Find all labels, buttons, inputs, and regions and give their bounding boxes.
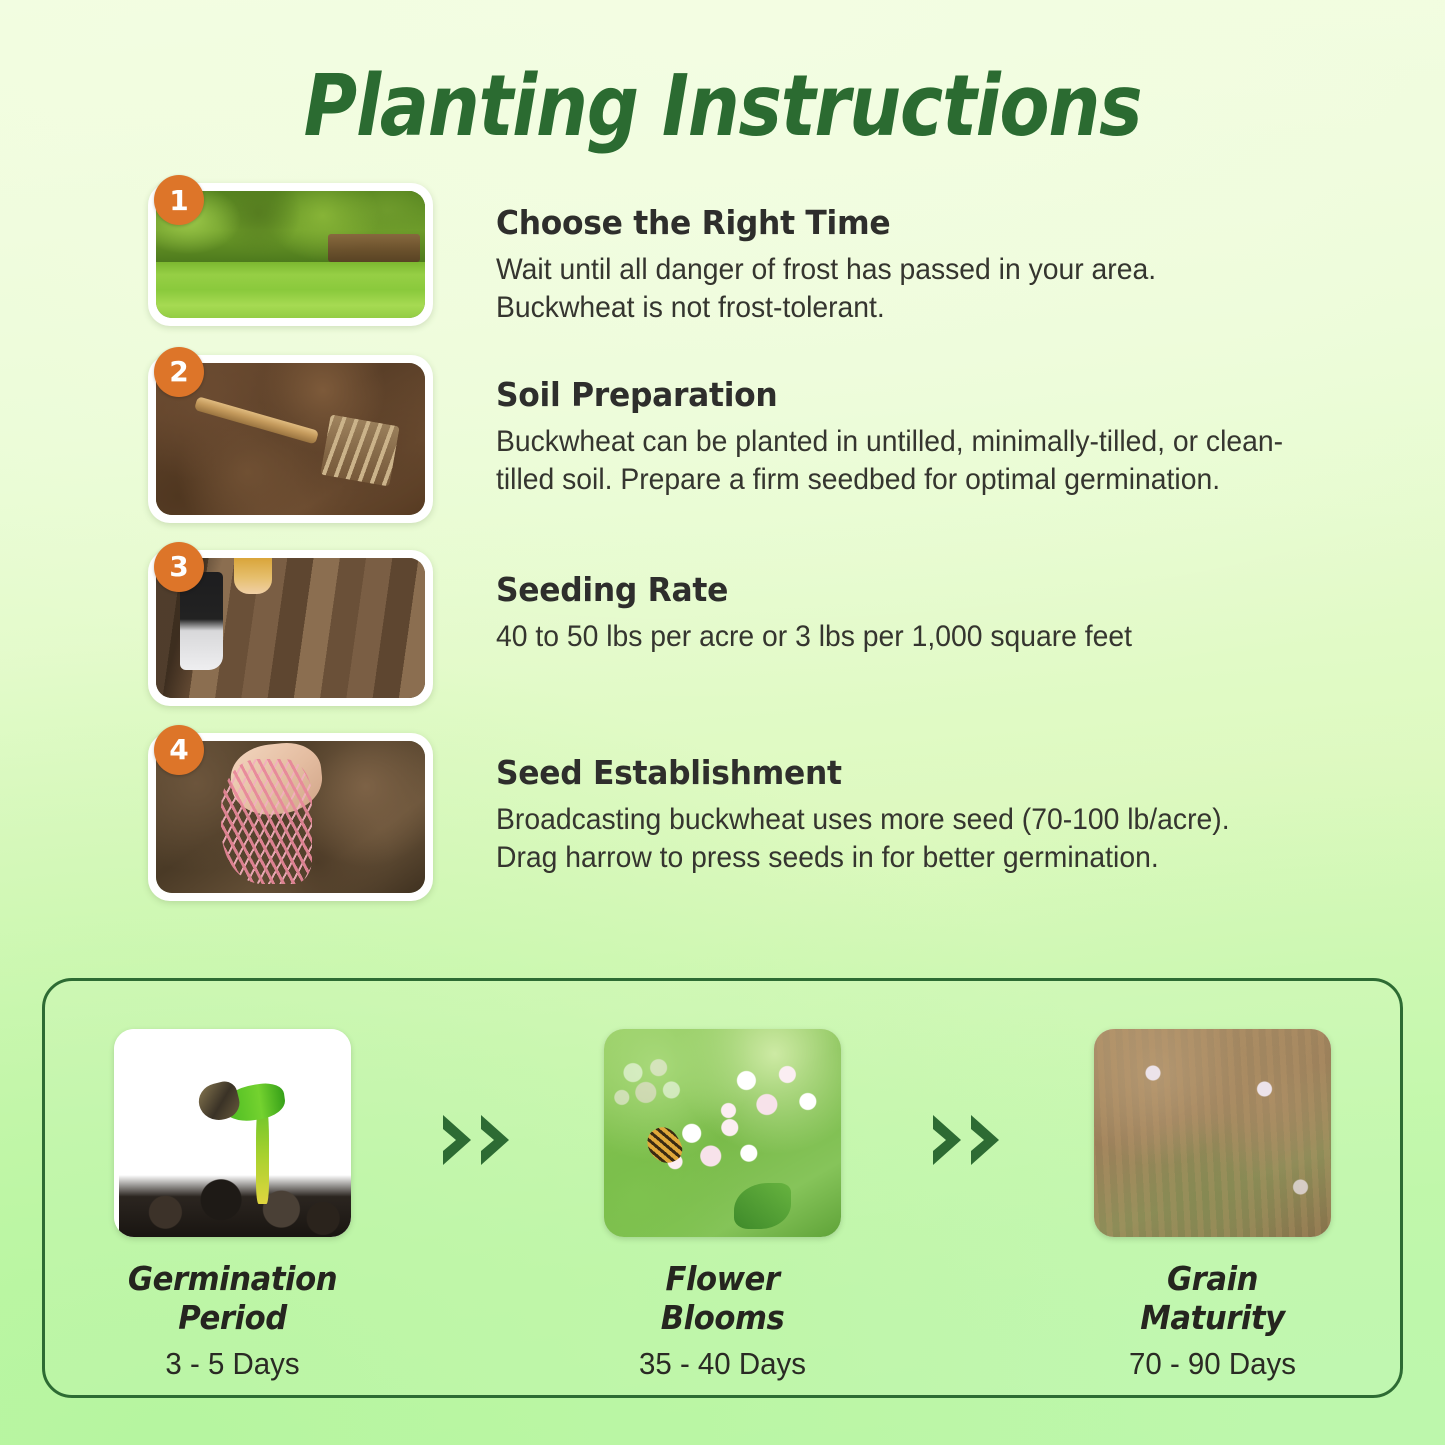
timeline-stage: Grain Maturity 70 - 90 Days bbox=[1085, 1029, 1340, 1382]
timeline-stage-value: 35 - 40 Days bbox=[601, 1346, 843, 1382]
timeline-stage-label: Grain Maturity bbox=[1094, 1259, 1331, 1337]
double-chevron-right-icon bbox=[432, 1107, 524, 1173]
step-item: 1 Choose the Right Time Wait until all d… bbox=[0, 183, 1445, 328]
seed-head-shape bbox=[1279, 1166, 1322, 1208]
step-thumbnail-wrap: 2 bbox=[148, 355, 433, 523]
timeline-stage-value: 70 - 90 Days bbox=[1091, 1346, 1333, 1382]
infographic-page: Planting Instructions 1 Choose the Right… bbox=[0, 0, 1445, 1445]
timeline-stage: Flower Blooms 35 - 40 Days bbox=[595, 1029, 850, 1382]
double-chevron-right-icon bbox=[922, 1107, 1014, 1173]
seeding-hand-shape bbox=[234, 558, 272, 594]
step-title: Seed Establishment bbox=[496, 753, 1398, 792]
mature-field-illustration bbox=[1094, 1029, 1331, 1237]
step-body: Buckwheat can be planted in untilled, mi… bbox=[496, 423, 1293, 500]
step-text: Choose the Right Time Wait until all dan… bbox=[433, 183, 1445, 328]
step-thumbnail-wrap: 1 bbox=[148, 183, 433, 326]
step-thumbnail-wrap: 4 bbox=[148, 733, 433, 901]
timeline-stage-value: 3 - 5 Days bbox=[111, 1346, 353, 1382]
step-title: Choose the Right Time bbox=[496, 203, 1398, 242]
step-body: Wait until all danger of frost has passe… bbox=[496, 251, 1293, 328]
pink-seeds-shape bbox=[221, 759, 312, 884]
step-item: 2 Soil Preparation Buckwheat can be plan… bbox=[0, 355, 1445, 523]
seed-head-shape bbox=[1127, 1050, 1179, 1096]
steps-list: 1 Choose the Right Time Wait until all d… bbox=[0, 183, 1445, 928]
timeline-stage: Germination Period 3 - 5 Days bbox=[105, 1029, 360, 1382]
step-item: 4 Seed Establishment Broadcasting buckwh… bbox=[0, 733, 1445, 901]
step-title: Soil Preparation bbox=[496, 375, 1398, 414]
timeline-stage-label: Flower Blooms bbox=[604, 1259, 841, 1337]
growth-timeline: Germination Period 3 - 5 Days bbox=[45, 981, 1400, 1395]
step-body: Broadcasting buckwheat uses more seed (7… bbox=[496, 801, 1293, 878]
step-number-badge: 4 bbox=[154, 725, 204, 775]
step-thumbnail-wrap: 3 bbox=[148, 550, 433, 706]
step-number-badge: 1 bbox=[154, 175, 204, 225]
leaf-shape bbox=[734, 1183, 791, 1229]
growth-timeline-panel: Germination Period 3 - 5 Days bbox=[42, 978, 1403, 1398]
step-text: Seeding Rate 40 to 50 lbs per acre or 3 … bbox=[433, 550, 1445, 656]
bloom-illustration bbox=[604, 1029, 841, 1237]
timeline-stage-label: Germination Period bbox=[114, 1259, 351, 1337]
step-item: 3 Seeding Rate 40 to 50 lbs per acre or … bbox=[0, 550, 1445, 706]
rake-handle-shape bbox=[194, 396, 319, 444]
step-text: Seed Establishment Broadcasting buckwhea… bbox=[433, 733, 1445, 878]
step-number-badge: 2 bbox=[154, 347, 204, 397]
soil-mound-shape bbox=[119, 1175, 351, 1237]
sprout-illustration bbox=[114, 1029, 351, 1237]
step-body: 40 to 50 lbs per acre or 3 lbs per 1,000… bbox=[496, 618, 1293, 656]
sprouting-seed-photo bbox=[114, 1029, 351, 1237]
step-text: Soil Preparation Buckwheat can be plante… bbox=[433, 355, 1445, 500]
seed-head-shape bbox=[1241, 1066, 1288, 1112]
mature-buckwheat-field-photo bbox=[1094, 1029, 1331, 1237]
step-number-badge: 3 bbox=[154, 542, 204, 592]
step-title: Seeding Rate bbox=[496, 570, 1398, 609]
rake-head-shape bbox=[321, 415, 400, 487]
buckwheat-flower-bee-photo bbox=[604, 1029, 841, 1237]
page-title: Planting Instructions bbox=[101, 62, 1344, 151]
blossom-cluster-shape bbox=[609, 1054, 690, 1116]
